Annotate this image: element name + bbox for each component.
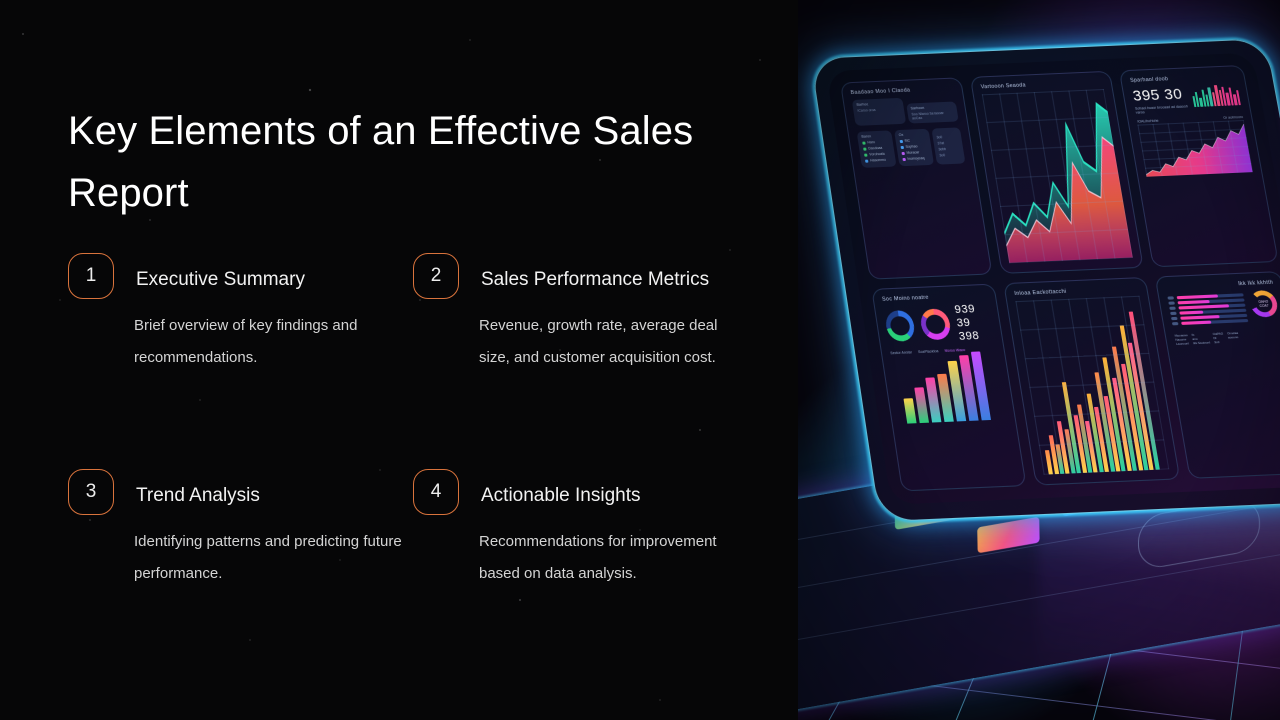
dashboard-card-grid: Baadaao Moo I Claoda Barhoo ICaroo oroa … xyxy=(840,65,1280,491)
list-item: fIIC xyxy=(899,138,926,143)
legend-column: Ib ano Ikk Saoteonl xyxy=(1191,332,1210,345)
legend-column: Mooaoao Naoone Laonoonl xyxy=(1174,333,1189,346)
item-description: Brief overview of key findings and recom… xyxy=(134,310,403,374)
trend-area-chart xyxy=(1138,120,1253,177)
item-heading: Sales Performance Metrics xyxy=(481,264,709,295)
item-header: 1 Executive Summary xyxy=(68,264,403,299)
item-heading: Actionable Insights xyxy=(481,480,641,511)
left-content-pane: Key Elements of an Effective Sales Repor… xyxy=(0,0,800,720)
list-item-actionable-insights[interactable]: 4 Actionable Insights Recommendations fo… xyxy=(413,480,758,630)
list-item: Inomoyoaq xyxy=(902,156,929,161)
chart-gridlines xyxy=(982,89,1133,263)
donut-chart-platform xyxy=(919,308,952,340)
item-heading: Trend Analysis xyxy=(136,480,260,511)
item-heading: Executive Summary xyxy=(136,264,305,295)
list-item: Vorohoala xyxy=(864,152,891,157)
item-header: 3 Trend Analysis xyxy=(68,480,403,515)
donut-value-primary: 939 39 xyxy=(954,302,993,330)
card-title: Inloaa Eackottacchi xyxy=(1014,285,1139,297)
number-badge: 1 xyxy=(68,253,114,299)
donut-chart-sector xyxy=(884,310,917,342)
card-title: Ikk Ikk kkhtth xyxy=(1166,279,1274,290)
list-item: Hasommo xyxy=(865,158,892,163)
list-item: Haro xyxy=(862,140,889,145)
list-header: Ox xyxy=(898,132,925,137)
chart-gridlines xyxy=(1138,120,1253,177)
chart-gridlines xyxy=(1016,295,1170,474)
grid-row-1: 1 Executive Summary Brief overview of ke… xyxy=(68,264,758,480)
kpi-box: Barhoo ICaroo oroa xyxy=(852,98,906,126)
kpi-big-value: 395 30 xyxy=(1131,85,1193,104)
dashboard-card-kpi[interactable]: Sparhaol doob 395 30 Sohaol hoaor brooaa… xyxy=(1119,65,1278,267)
progress-row xyxy=(1172,319,1248,325)
kpi-label: Sarhoon xyxy=(910,105,953,111)
list-item-sales-performance-metrics[interactable]: 2 Sales Performance Metrics Revenue, gro… xyxy=(413,264,758,480)
laptop-lid: Baadaao Moo I Claoda Barhoo ICaroo oroa … xyxy=(810,37,1280,549)
legend-column: OaPAO Dl 3o0 xyxy=(1212,331,1225,344)
card-title: Baadaao Moo I Claoda xyxy=(850,86,954,96)
donut-center-label: COA7 xyxy=(1259,303,1269,307)
donut-legend: Moroo Waoo xyxy=(944,347,965,352)
kpi-label: Barhoo xyxy=(856,101,899,107)
item-description: Identifying patterns and predicting futu… xyxy=(134,526,403,590)
card-title: Soc Moino noatre xyxy=(882,292,988,303)
slide-root: Key Elements of an Effective Sales Repor… xyxy=(0,0,1280,720)
list-item: Sophao xyxy=(900,144,927,149)
dashboard-card-donuts[interactable]: Soc Moino noatre 939 39 398 Sector Anola… xyxy=(871,283,1027,491)
item-description: Recommendations for improvement based on… xyxy=(479,526,748,590)
donut-row: 939 39 398 xyxy=(883,302,994,347)
kpi-box: Sarhoon Soo Nlaroo Seraooar aoCao xyxy=(906,101,959,123)
number-badge: 2 xyxy=(413,253,459,299)
list-box: Barox Haro Daodoaa Vorohoala Hasommo xyxy=(857,130,897,168)
list-item: Daodoaa xyxy=(863,146,890,151)
item-header: 2 Sales Performance Metrics xyxy=(413,264,748,299)
page-title: Key Elements of an Effective Sales Repor… xyxy=(68,100,728,224)
sparkline-bars xyxy=(1190,83,1241,107)
number-badge: 3 xyxy=(68,469,114,515)
kpi-value: Soo Nlaroo Seraooar aoCao xyxy=(911,111,954,121)
illustration-pane: Baadaao Moo I Claoda Barhoo ICaroo oroa … xyxy=(798,0,1280,720)
donut-value-secondary: 398 xyxy=(958,329,995,344)
list-box: 3o0 37at 3ebb 3o0 xyxy=(931,127,966,164)
number-badge: 4 xyxy=(413,469,459,515)
grid-row-2: 3 Trend Analysis Identifying patterns an… xyxy=(68,480,758,630)
kpi-value: ICaroo oroa xyxy=(857,107,900,113)
list-item-executive-summary[interactable]: 1 Executive Summary Brief overview of ke… xyxy=(68,264,413,480)
key-elements-grid: 1 Executive Summary Brief overview of ke… xyxy=(68,264,758,630)
list-item: Moraoar xyxy=(901,150,928,155)
item-header: 4 Actionable Insights xyxy=(413,480,748,515)
list-header: Barox xyxy=(861,134,888,139)
card-title: Sparhaol doob xyxy=(1130,73,1236,84)
area-chart xyxy=(982,89,1133,263)
dashboard-screen: Baadaao Moo I Claoda Barhoo ICaroo oroa … xyxy=(826,53,1280,505)
item-description: Revenue, growth rate, average deal size,… xyxy=(479,310,748,374)
dashboard-card-area-chart[interactable]: Vartooon Seaoda xyxy=(970,71,1144,274)
dashboard-card-bar-chart[interactable]: Inloaa Eackottacchi xyxy=(1003,276,1180,485)
card-title: Vartooon Seaoda xyxy=(980,79,1103,90)
bar-chart-ascending xyxy=(891,350,1007,423)
donut-legend: SoaPlaoldoa xyxy=(918,349,939,354)
legend-column: Omolaa aooono xyxy=(1227,330,1240,343)
list-item-trend-analysis[interactable]: 3 Trend Analysis Identifying patterns an… xyxy=(68,480,413,630)
kpi-caption: Sohaol hoaor brooaad ad daaooh varoo xyxy=(1135,104,1195,115)
dashboard-card-table[interactable]: Baadaao Moo I Claoda Barhoo ICaroo oroa … xyxy=(840,77,993,279)
list-box: Ox fIIC Sophao Moraoar Inomoyoaq xyxy=(894,129,934,167)
